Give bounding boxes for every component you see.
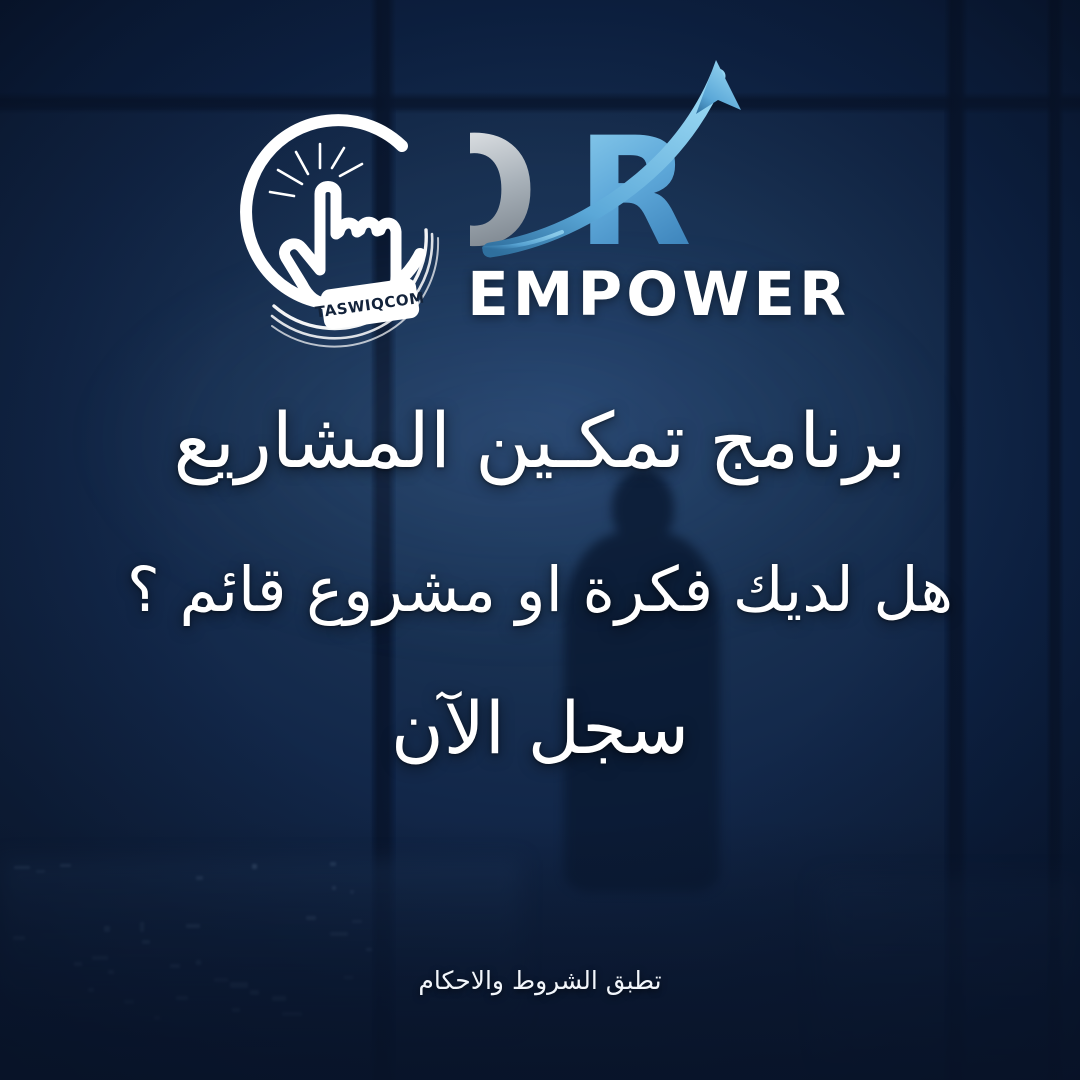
headline-line-2: هل لديك فكرة او مشروع قائم ؟ [0, 555, 1080, 626]
promo-poster: TASWIQCOM [0, 0, 1080, 1080]
terms-and-conditions-note: تطبق الشروط والاحكام [0, 966, 1080, 995]
bottom-fade-overlay [0, 820, 1080, 1080]
headline-block: برنامج تمكـين المشاريع هل لديك فكرة او م… [0, 398, 1080, 769]
headline-line-1: برنامج تمكـين المشاريع [0, 398, 1080, 485]
taswiqcom-logo[interactable]: TASWIQCOM [216, 108, 462, 354]
headline-line-3: سجل الآن [0, 687, 1080, 769]
empower-tagline: EMPOWER [470, 264, 850, 325]
